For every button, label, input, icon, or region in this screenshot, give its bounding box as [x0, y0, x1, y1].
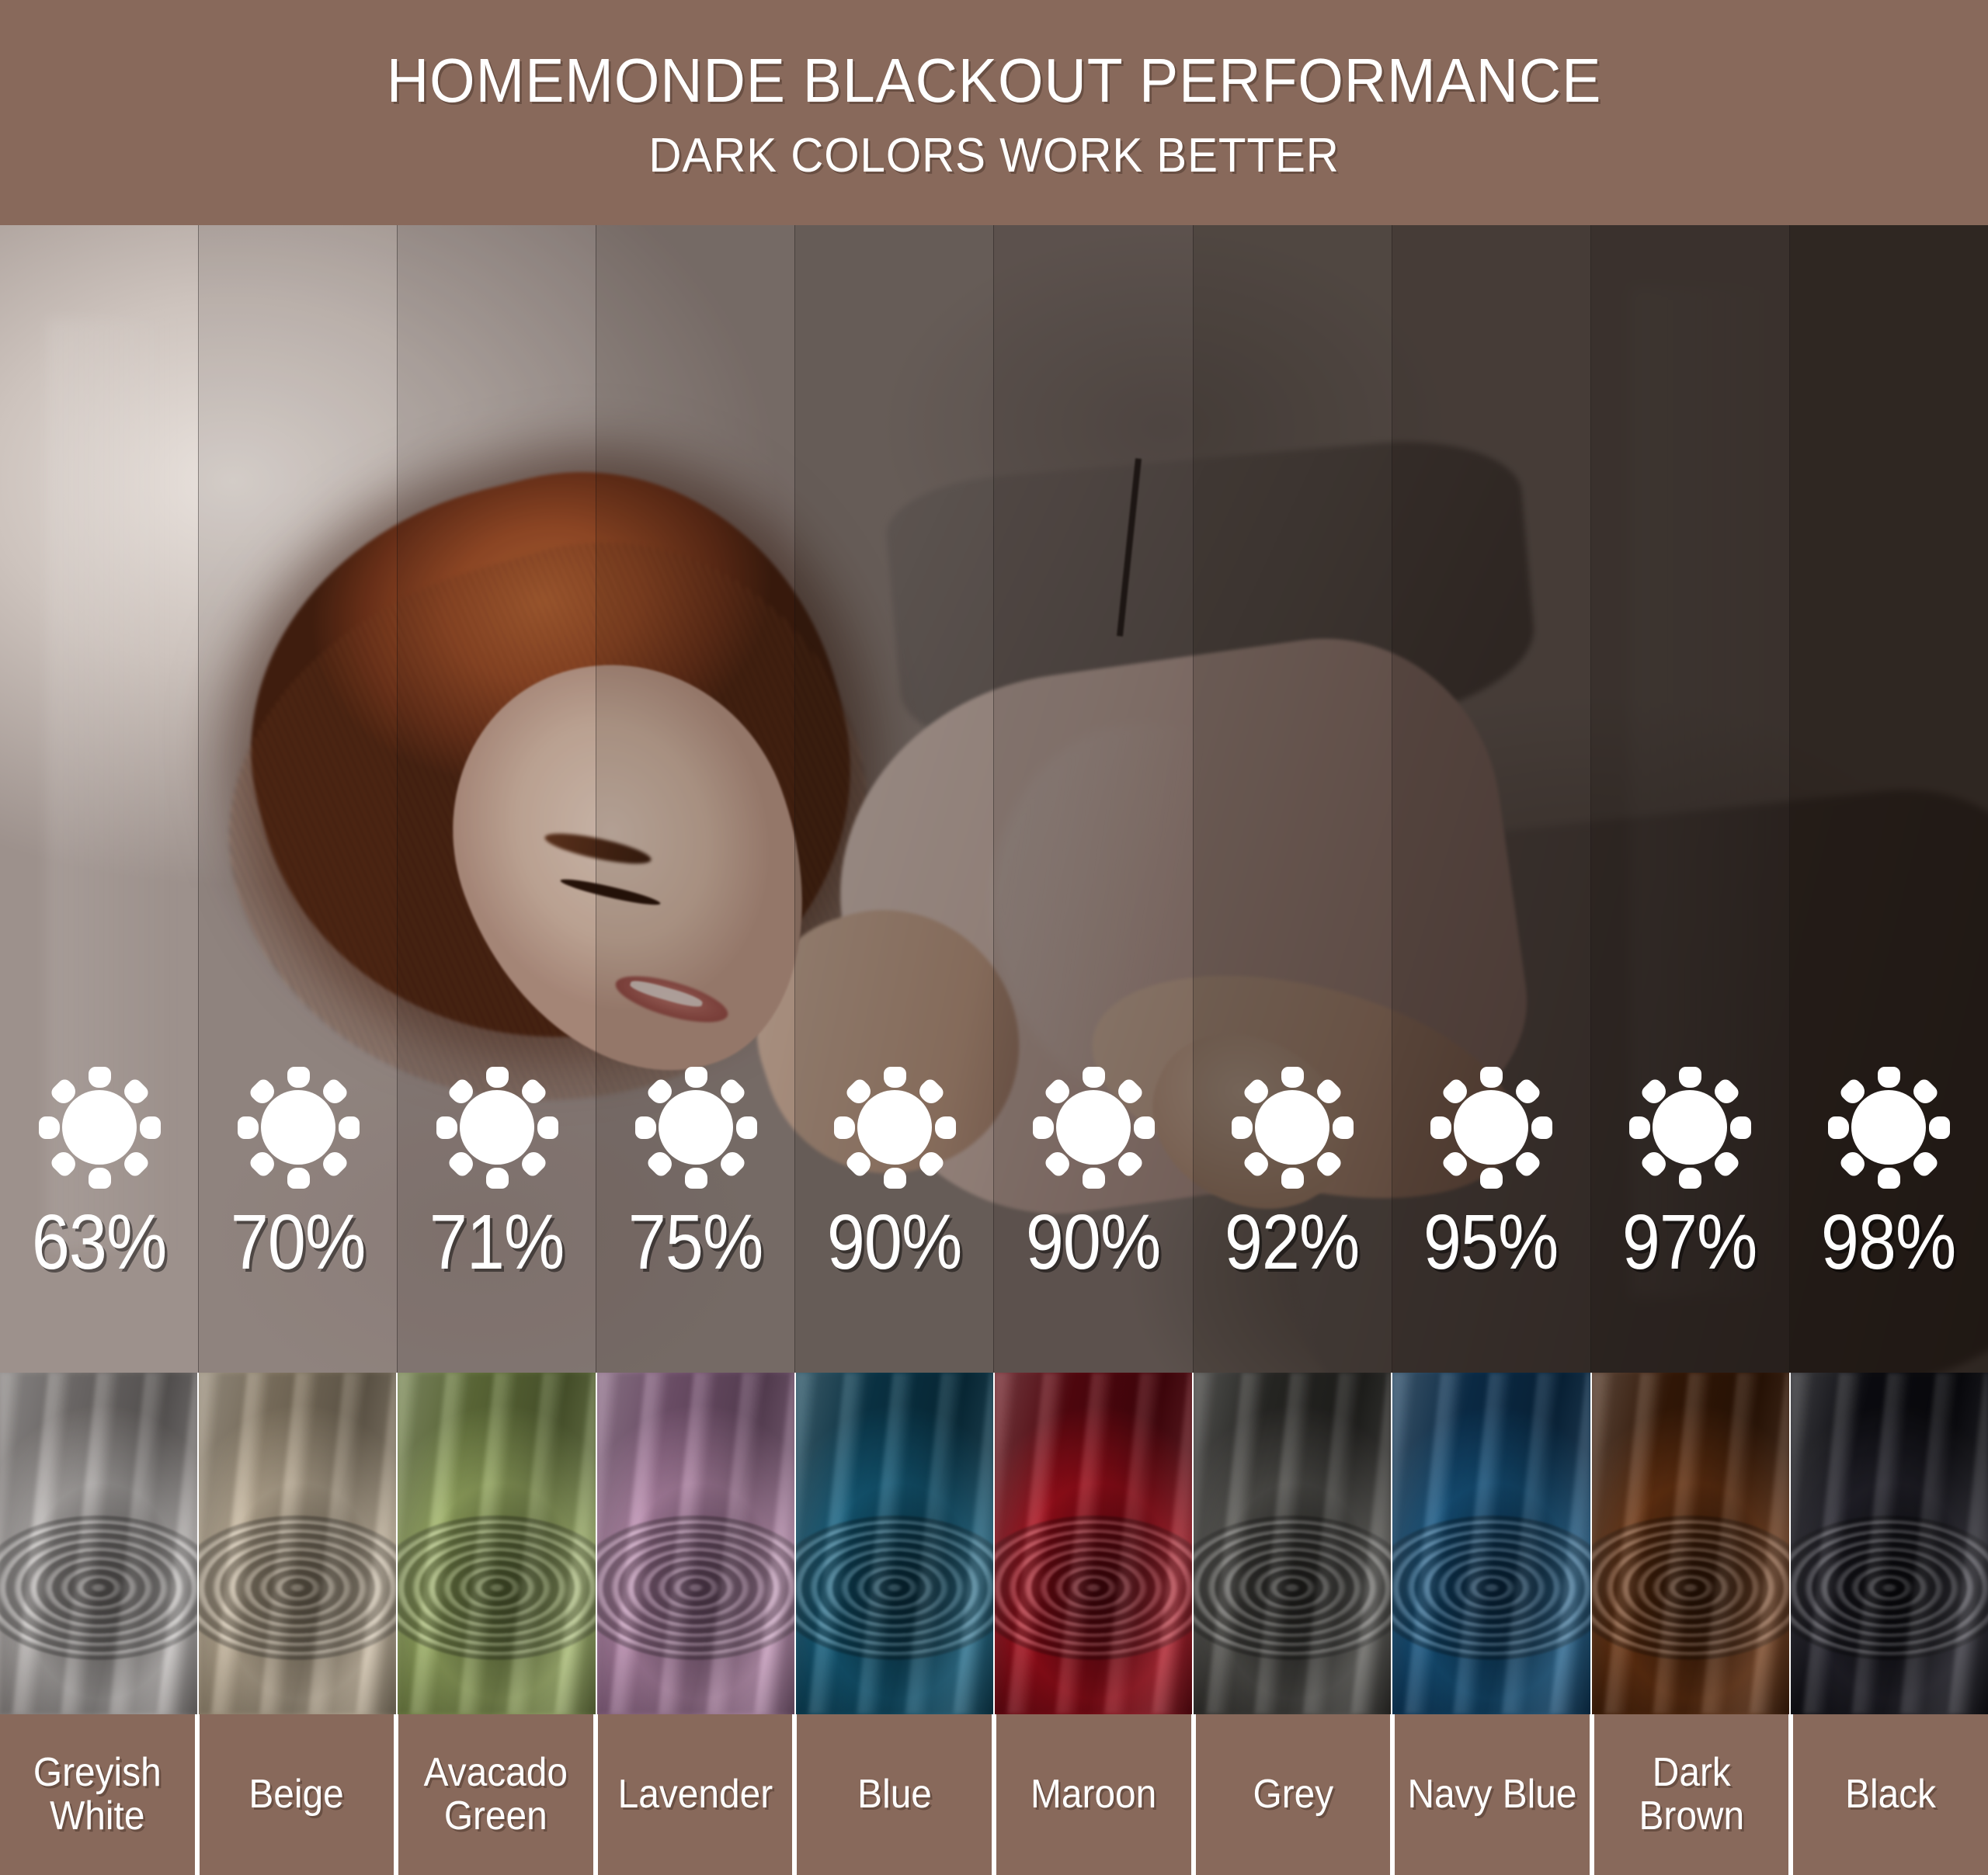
- fabric-swatch[interactable]: [1392, 1373, 1591, 1714]
- sun-ray: [1134, 1116, 1155, 1139]
- blackout-indicator-cell: 90%: [994, 225, 1193, 1373]
- sun-disc: [1653, 1090, 1727, 1165]
- sun-disc: [1851, 1090, 1926, 1165]
- sun-ray: [39, 1116, 60, 1139]
- sun-icon: [831, 1064, 958, 1191]
- blackout-indicator-cell: 70%: [199, 225, 398, 1373]
- sun-ray: [1333, 1116, 1354, 1139]
- fabric-swatch[interactable]: [1791, 1373, 1988, 1714]
- color-label-cell[interactable]: Greyish White: [0, 1714, 200, 1875]
- swatch-sheen: [0, 1373, 197, 1714]
- sun-icon: [1825, 1064, 1952, 1191]
- blackout-percent-label: 92%: [1225, 1203, 1359, 1281]
- blackout-indicator-cell: 90%: [795, 225, 994, 1373]
- color-label-cell[interactable]: Dark Brown: [1594, 1714, 1794, 1875]
- sun-ray: [287, 1067, 310, 1088]
- color-label-cell[interactable]: Beige: [200, 1714, 399, 1875]
- fabric-swatch-strip: [0, 1373, 1988, 1714]
- color-label-cell[interactable]: Maroon: [996, 1714, 1196, 1875]
- swatch-sheen: [1392, 1373, 1590, 1714]
- swatch-sheen: [1592, 1373, 1789, 1714]
- sun-ray: [89, 1168, 111, 1189]
- sun-ray: [287, 1168, 310, 1189]
- color-label-strip: Greyish WhiteBeigeAvacado GreenLavenderB…: [0, 1714, 1988, 1875]
- swatch-sheen: [1791, 1373, 1988, 1714]
- sun-disc: [261, 1090, 335, 1165]
- sun-ray: [685, 1067, 707, 1088]
- blackout-percent-label: 70%: [231, 1203, 365, 1281]
- blackout-indicator-cell: 97%: [1590, 225, 1789, 1373]
- sun-icon: [433, 1064, 561, 1191]
- sun-icon: [36, 1064, 163, 1191]
- swatch-sheen: [199, 1373, 396, 1714]
- sun-ray: [935, 1116, 956, 1139]
- sun-ray: [339, 1116, 360, 1139]
- hero-photo-strip: 63%70%71%75%90%90%92%95%97%98%: [0, 225, 1988, 1373]
- color-label-cell[interactable]: Blue: [797, 1714, 996, 1875]
- blackout-percent-label: 71%: [429, 1203, 564, 1281]
- color-label-text: Avacado Green: [411, 1752, 582, 1837]
- fabric-swatch[interactable]: [995, 1373, 1194, 1714]
- sun-icon: [235, 1064, 362, 1191]
- sun-icon: [1030, 1064, 1157, 1191]
- sun-ray: [1480, 1168, 1503, 1189]
- sun-ray: [1480, 1067, 1503, 1088]
- page-subtitle: DARK COLORS WORK BETTER: [648, 132, 1339, 180]
- sun-ray: [1929, 1116, 1950, 1139]
- fabric-swatch[interactable]: [1592, 1373, 1791, 1714]
- sun-ray: [635, 1116, 656, 1139]
- sun-ray: [1083, 1067, 1105, 1088]
- color-label-cell[interactable]: Navy Blue: [1395, 1714, 1594, 1875]
- sun-ray: [1083, 1168, 1105, 1189]
- swatch-sheen: [796, 1373, 993, 1714]
- sun-disc: [1255, 1090, 1329, 1165]
- sun-ray: [1679, 1168, 1701, 1189]
- sun-ray: [1679, 1067, 1701, 1088]
- blackout-indicator-cell: 63%: [0, 225, 199, 1373]
- sun-ray: [238, 1116, 259, 1139]
- sun-disc: [659, 1090, 733, 1165]
- fabric-swatch[interactable]: [398, 1373, 596, 1714]
- blackout-percent-label: 97%: [1622, 1203, 1757, 1281]
- color-label-text: Dark Brown: [1606, 1752, 1777, 1837]
- color-label-cell[interactable]: Grey: [1196, 1714, 1395, 1875]
- blackout-percent-label: 75%: [628, 1203, 763, 1281]
- sun-ray: [1430, 1116, 1451, 1139]
- color-label-text: Greyish White: [12, 1752, 183, 1837]
- swatch-sheen: [995, 1373, 1192, 1714]
- sun-ray: [1033, 1116, 1054, 1139]
- sun-ray: [1281, 1067, 1304, 1088]
- sun-ray: [1878, 1168, 1900, 1189]
- blackout-percent-label: 95%: [1423, 1203, 1558, 1281]
- fabric-swatch[interactable]: [0, 1373, 199, 1714]
- blackout-indicator-cell: 95%: [1392, 225, 1590, 1373]
- sun-ray: [1232, 1116, 1253, 1139]
- blackout-indicator-cell: 71%: [398, 225, 596, 1373]
- blackout-indicator-cell: 92%: [1193, 225, 1392, 1373]
- sun-ray: [736, 1116, 757, 1139]
- sun-disc: [62, 1090, 137, 1165]
- fabric-swatch[interactable]: [796, 1373, 995, 1714]
- sun-ray: [486, 1168, 509, 1189]
- sun-disc: [1454, 1090, 1528, 1165]
- sun-ray: [537, 1116, 558, 1139]
- color-label-text: Maroon: [1030, 1773, 1156, 1816]
- color-label-cell[interactable]: Avacado Green: [398, 1714, 598, 1875]
- sun-disc: [460, 1090, 534, 1165]
- blackout-indicator-row: 63%70%71%75%90%90%92%95%97%98%: [0, 225, 1988, 1373]
- blackout-indicator-cell: 98%: [1789, 225, 1988, 1373]
- sun-ray: [89, 1067, 111, 1088]
- sun-ray: [486, 1067, 509, 1088]
- swatch-sheen: [398, 1373, 595, 1714]
- blackout-percent-label: 63%: [32, 1203, 166, 1281]
- sun-icon: [632, 1064, 759, 1191]
- sun-disc: [1056, 1090, 1131, 1165]
- sun-ray: [884, 1168, 906, 1189]
- sun-ray: [1531, 1116, 1552, 1139]
- blackout-percent-label: 98%: [1821, 1203, 1955, 1281]
- color-label-text: Beige: [249, 1773, 344, 1816]
- fabric-swatch[interactable]: [597, 1373, 796, 1714]
- blackout-performance-infographic: HOMEMONDE BLACKOUT PERFORMANCE DARK COLO…: [0, 0, 1988, 1875]
- color-label-text: Lavender: [617, 1773, 772, 1816]
- sun-ray: [685, 1168, 707, 1189]
- sun-ray: [1828, 1116, 1849, 1139]
- blackout-percent-label: 90%: [827, 1203, 961, 1281]
- color-label-text: Grey: [1253, 1773, 1333, 1816]
- blackout-indicator-cell: 75%: [596, 225, 795, 1373]
- color-label-cell[interactable]: Black: [1793, 1714, 1988, 1875]
- sun-disc: [857, 1090, 932, 1165]
- sun-ray: [436, 1116, 457, 1139]
- color-label-cell[interactable]: Lavender: [598, 1714, 798, 1875]
- color-label-text: Navy Blue: [1407, 1773, 1576, 1816]
- page-title: HOMEMONDE BLACKOUT PERFORMANCE: [387, 50, 1601, 112]
- sun-ray: [1281, 1168, 1304, 1189]
- sun-ray: [1629, 1116, 1650, 1139]
- fabric-swatch[interactable]: [1194, 1373, 1392, 1714]
- header-banner: HOMEMONDE BLACKOUT PERFORMANCE DARK COLO…: [0, 0, 1988, 225]
- sun-icon: [1427, 1064, 1555, 1191]
- sun-ray: [1878, 1067, 1900, 1088]
- sun-icon: [1229, 1064, 1356, 1191]
- sun-ray: [834, 1116, 855, 1139]
- swatch-sheen: [597, 1373, 794, 1714]
- sun-ray: [140, 1116, 161, 1139]
- fabric-swatch[interactable]: [199, 1373, 398, 1714]
- swatch-sheen: [1194, 1373, 1391, 1714]
- sun-ray: [884, 1067, 906, 1088]
- blackout-percent-label: 90%: [1026, 1203, 1160, 1281]
- color-label-text: Black: [1845, 1773, 1936, 1816]
- color-label-text: Blue: [857, 1773, 932, 1816]
- sun-ray: [1730, 1116, 1751, 1139]
- sun-icon: [1626, 1064, 1753, 1191]
